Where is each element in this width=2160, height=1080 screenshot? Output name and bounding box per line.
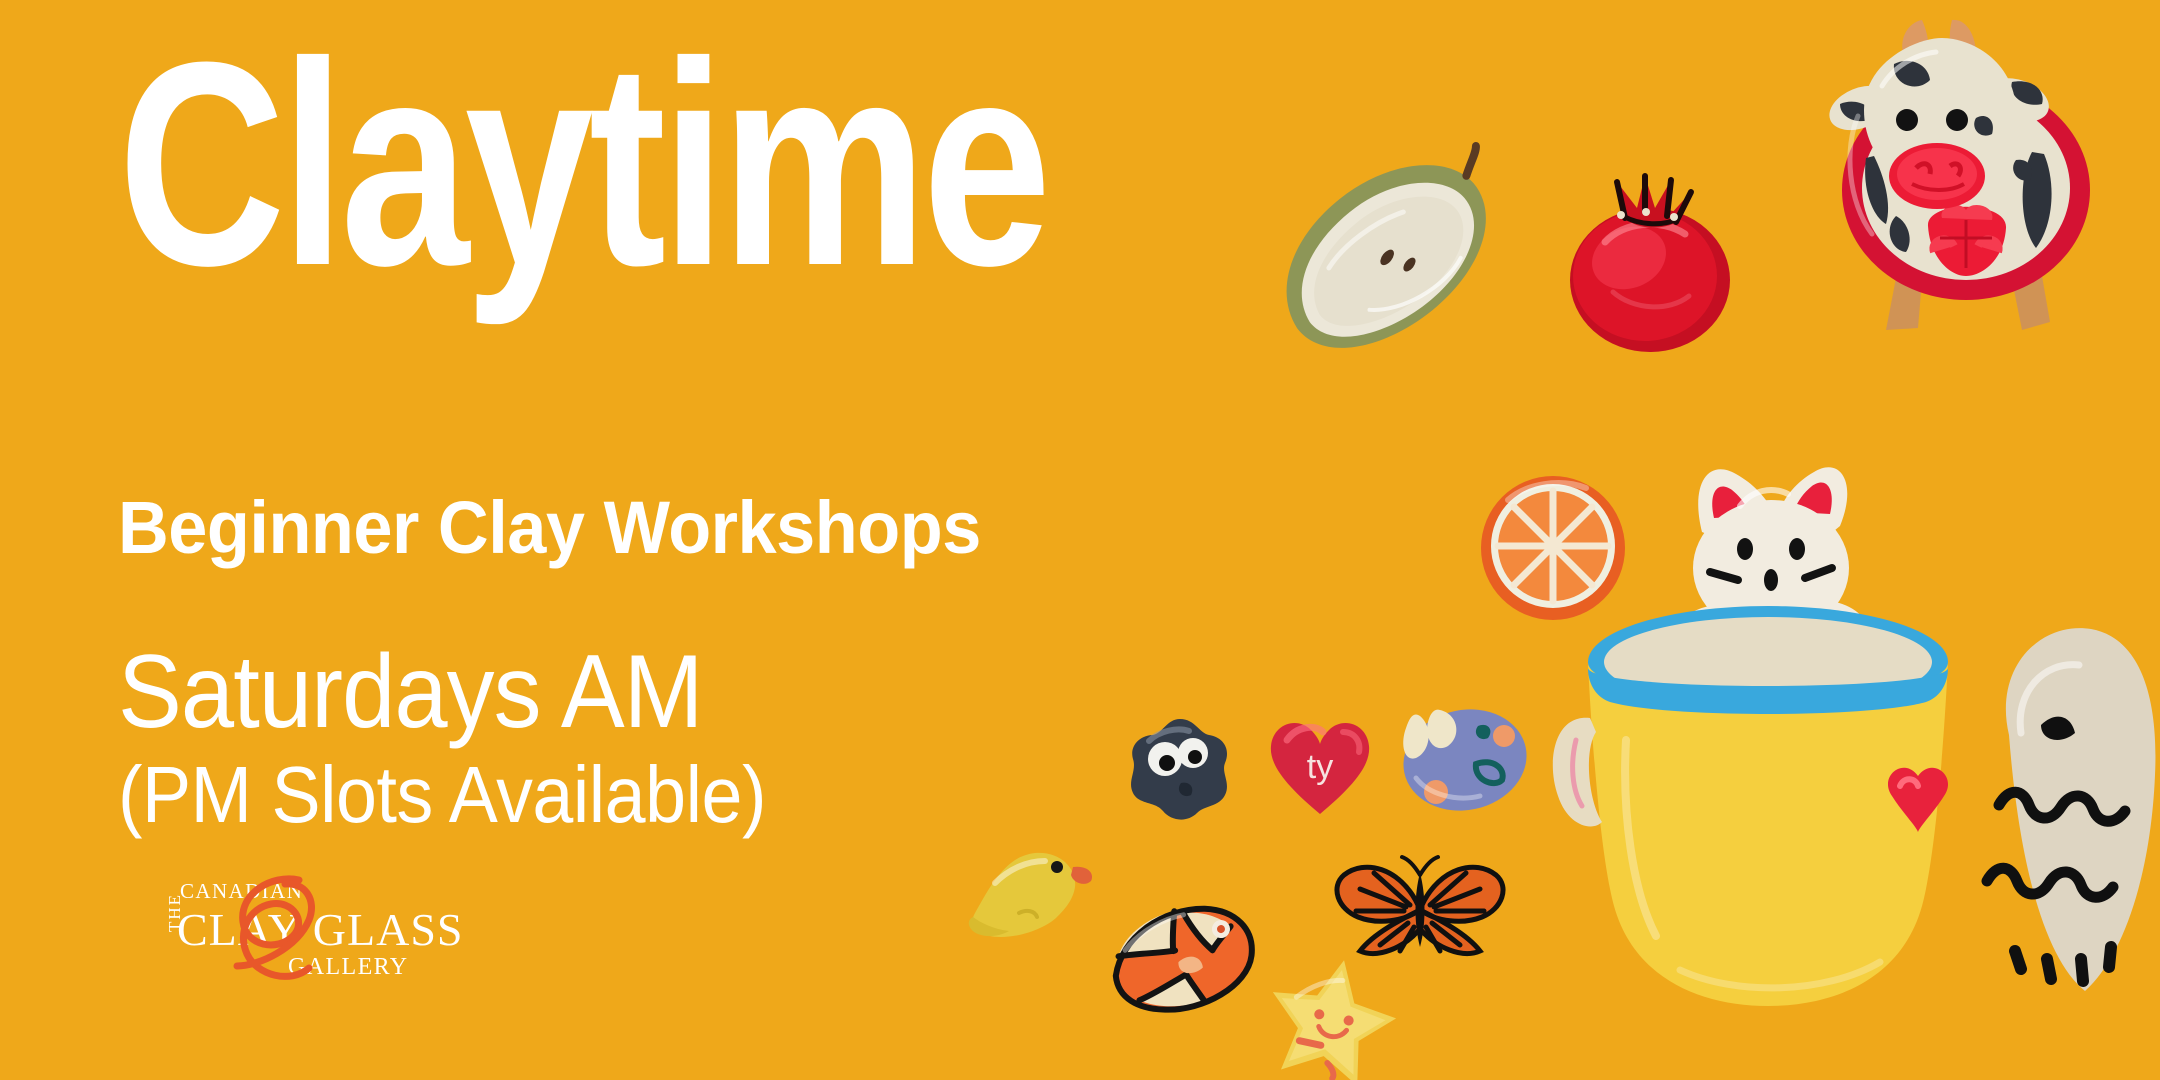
- blue-oval-object: [1400, 700, 1530, 815]
- heart-ty-label: ty: [1307, 748, 1333, 786]
- clownfish-object: [1100, 895, 1265, 1025]
- cat-mug-object: [1540, 440, 2000, 1020]
- logo-gallery-text: GALLERY: [288, 954, 408, 981]
- pomegranate-object: [1545, 172, 1755, 357]
- cow-dish-object: [1800, 8, 2130, 338]
- owl-plaque-object: [1975, 615, 2160, 1015]
- heart-ty-object: ty: [1265, 710, 1375, 820]
- page-title: Claytime: [118, 40, 1047, 289]
- logo-clay-glass-text: CLAY GLASS: [177, 903, 464, 956]
- schedule-note: (PM Slots Available): [118, 755, 766, 835]
- pear-dish-object: [1262, 150, 1512, 380]
- gallery-logo: THE CANADIAN CLAY GLASS GALLERY: [73, 872, 403, 990]
- schedule-main: Saturdays AM: [118, 640, 703, 744]
- subtitle: Beginner Clay Workshops: [118, 485, 981, 570]
- butterfly-object: [1330, 855, 1510, 960]
- duck-object: [965, 845, 1105, 950]
- logo-canadian-text: CANADIAN: [180, 879, 303, 904]
- poster-canvas: Claytime Beginner Clay Workshops Saturda…: [0, 0, 2160, 1080]
- googly-flower-object: [1125, 715, 1235, 825]
- star-object: [1265, 955, 1400, 1080]
